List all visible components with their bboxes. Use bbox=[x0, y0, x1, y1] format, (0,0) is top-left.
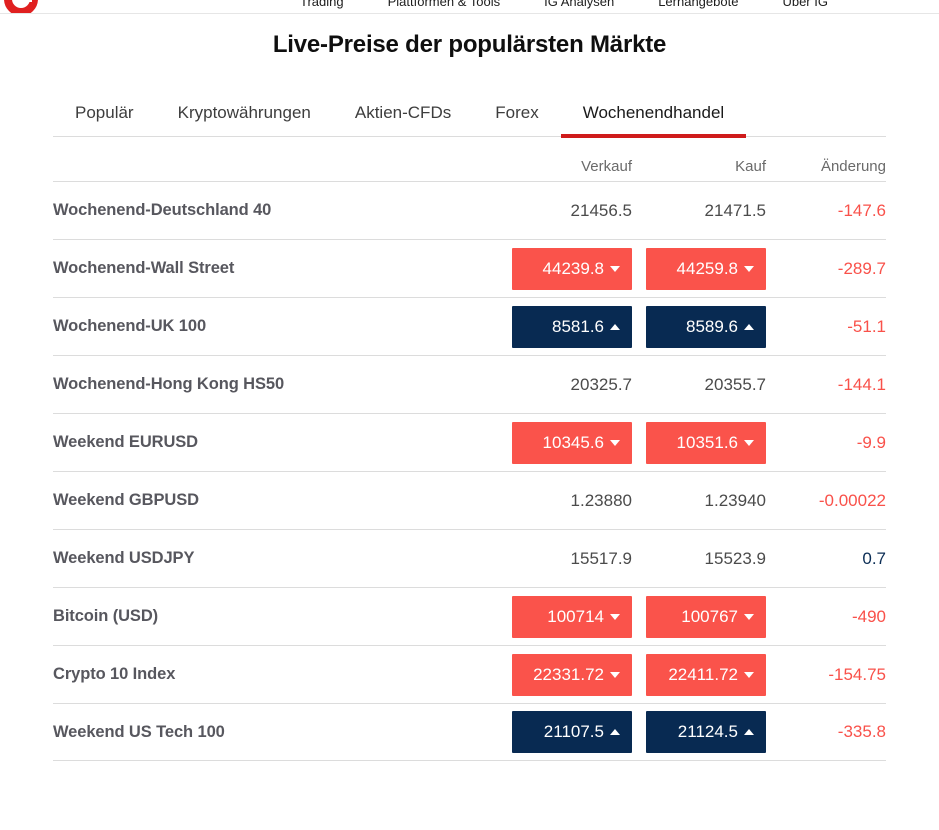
market-category-tabs: PopulärKryptowährungenAktien-CFDsForexWo… bbox=[0, 103, 939, 137]
table-row[interactable]: Wochenend-Hong Kong HS5020325.720355.7-1… bbox=[53, 355, 886, 413]
table-row[interactable]: Bitcoin (USD)100714100767-490 bbox=[53, 587, 886, 645]
top-nav-items: TradingPlattformen & ToolsIG AnalysenLer… bbox=[300, 0, 828, 9]
instrument-name-cell[interactable]: Weekend EURUSD bbox=[53, 433, 512, 452]
change-value: -335.8 bbox=[838, 722, 886, 741]
top-nav-item-4[interactable]: Über IG bbox=[782, 0, 828, 9]
sell-price-button[interactable]: 10345.6 bbox=[512, 422, 632, 464]
instrument-name: Weekend EURUSD bbox=[53, 433, 198, 451]
instrument-name: Bitcoin (USD) bbox=[53, 607, 158, 625]
change-value: -147.6 bbox=[838, 201, 886, 220]
arrow-down-icon bbox=[610, 440, 620, 446]
sell-price-cell[interactable]: 100714 bbox=[512, 596, 646, 638]
arrow-up-icon bbox=[610, 729, 620, 735]
instrument-name-cell[interactable]: Crypto 10 Index bbox=[53, 665, 512, 684]
buy-price-value: 100767 bbox=[681, 607, 738, 627]
instrument-name: Wochenend-Wall Street bbox=[53, 259, 234, 277]
tab-aktien-cfds[interactable]: Aktien-CFDs bbox=[333, 103, 473, 136]
tab-forex[interactable]: Forex bbox=[473, 103, 560, 136]
arrow-up-icon bbox=[610, 324, 620, 330]
change-cell: -335.8 bbox=[780, 722, 886, 742]
column-header-change: Änderung bbox=[780, 158, 886, 175]
buy-price-value: 20355.7 bbox=[705, 375, 766, 395]
instrument-name: Wochenend-UK 100 bbox=[53, 317, 206, 335]
buy-price-cell[interactable]: 10351.6 bbox=[646, 422, 780, 464]
buy-price-value: 10351.6 bbox=[677, 433, 738, 453]
instrument-name-cell[interactable]: Weekend US Tech 100 bbox=[53, 723, 512, 742]
change-cell: -289.7 bbox=[780, 259, 886, 279]
sell-price-value: 20325.7 bbox=[571, 375, 632, 395]
arrow-down-icon bbox=[744, 440, 754, 446]
sell-price-button[interactable]: 44239.8 bbox=[512, 248, 632, 290]
buy-price-cell[interactable]: 1.23940 bbox=[646, 491, 780, 511]
sell-price-value: 21456.5 bbox=[571, 201, 632, 221]
buy-price-button[interactable]: 10351.6 bbox=[646, 422, 766, 464]
instrument-name: Wochenend-Deutschland 40 bbox=[53, 201, 271, 219]
buy-price-button[interactable]: 8589.6 bbox=[646, 306, 766, 348]
tabs-underline bbox=[53, 136, 886, 137]
sell-price-value: 1.23880 bbox=[571, 491, 632, 511]
instrument-name-cell[interactable]: Weekend USDJPY bbox=[53, 549, 512, 568]
table-row[interactable]: Weekend EURUSD10345.610351.6-9.9 bbox=[53, 413, 886, 471]
buy-price-cell[interactable]: 15523.9 bbox=[646, 549, 780, 569]
table-row[interactable]: Crypto 10 Index22331.7222411.72-154.75 bbox=[53, 645, 886, 703]
table-row[interactable]: Wochenend-Deutschland 4021456.521471.5-1… bbox=[53, 181, 886, 239]
change-value: -0.00022 bbox=[819, 491, 886, 510]
table-row[interactable]: Weekend USDJPY15517.915523.90.7 bbox=[53, 529, 886, 587]
arrow-down-icon bbox=[744, 672, 754, 678]
arrow-up-icon bbox=[744, 324, 754, 330]
page-title: Live-Preise der populärsten Märkte bbox=[0, 31, 939, 59]
buy-price-button[interactable]: 44259.8 bbox=[646, 248, 766, 290]
top-nav-item-3[interactable]: Lernangebote bbox=[658, 0, 738, 9]
buy-price-cell[interactable]: 44259.8 bbox=[646, 248, 780, 290]
buy-price-value: 21124.5 bbox=[678, 722, 738, 742]
instrument-name: Crypto 10 Index bbox=[53, 665, 175, 683]
change-cell: -144.1 bbox=[780, 375, 886, 395]
table-row[interactable]: Wochenend-UK 1008581.68589.6-51.1 bbox=[53, 297, 886, 355]
buy-price-cell[interactable]: 20355.7 bbox=[646, 375, 780, 395]
sell-price-button[interactable]: 22331.72 bbox=[512, 654, 632, 696]
arrow-down-icon bbox=[744, 614, 754, 620]
tab-popul-r[interactable]: Populär bbox=[53, 103, 156, 136]
change-cell: -147.6 bbox=[780, 201, 886, 221]
arrow-up-icon bbox=[744, 729, 754, 735]
site-top-navigation: TradingPlattformen & ToolsIG AnalysenLer… bbox=[0, 0, 939, 14]
instrument-name-cell[interactable]: Wochenend-Hong Kong HS50 bbox=[53, 375, 512, 394]
sell-price-cell[interactable]: 21456.5 bbox=[512, 201, 646, 221]
buy-price-button[interactable]: 100767 bbox=[646, 596, 766, 638]
ig-logo[interactable] bbox=[4, 0, 38, 14]
arrow-down-icon bbox=[610, 266, 620, 272]
change-cell: 0.7 bbox=[780, 549, 886, 569]
sell-price-value: 100714 bbox=[547, 607, 604, 627]
sell-price-value: 22331.72 bbox=[533, 665, 604, 685]
sell-price-cell[interactable]: 44239.8 bbox=[512, 248, 646, 290]
arrow-down-icon bbox=[610, 614, 620, 620]
top-nav-item-1[interactable]: Plattformen & Tools bbox=[388, 0, 500, 9]
change-cell: -0.00022 bbox=[780, 491, 886, 511]
sell-price-button[interactable]: 100714 bbox=[512, 596, 632, 638]
change-cell: -51.1 bbox=[780, 317, 886, 337]
instrument-name: Weekend US Tech 100 bbox=[53, 723, 225, 741]
sell-price-cell[interactable]: 10345.6 bbox=[512, 422, 646, 464]
change-cell: -9.9 bbox=[780, 433, 886, 453]
table-body: Wochenend-Deutschland 4021456.521471.5-1… bbox=[53, 181, 886, 761]
change-value: -490 bbox=[852, 607, 886, 626]
instrument-name-cell[interactable]: Bitcoin (USD) bbox=[53, 607, 512, 626]
sell-price-value: 15517.9 bbox=[571, 549, 632, 569]
table-row[interactable]: Weekend GBPUSD1.238801.23940-0.00022 bbox=[53, 471, 886, 529]
sell-price-cell[interactable]: 20325.7 bbox=[512, 375, 646, 395]
change-cell: -154.75 bbox=[780, 665, 886, 685]
sell-price-cell[interactable]: 21107.5 bbox=[512, 711, 646, 753]
sell-price-cell[interactable]: 15517.9 bbox=[512, 549, 646, 569]
arrow-down-icon bbox=[744, 266, 754, 272]
sell-price-value: 10345.6 bbox=[543, 433, 604, 453]
instrument-name-cell[interactable]: Wochenend-Deutschland 40 bbox=[53, 201, 512, 220]
buy-price-value: 44259.8 bbox=[677, 259, 738, 279]
change-value: -154.75 bbox=[828, 665, 886, 684]
arrow-down-icon bbox=[610, 672, 620, 678]
buy-price-cell[interactable]: 21471.5 bbox=[646, 201, 780, 221]
buy-price-value: 8589.6 bbox=[686, 317, 738, 337]
column-header-sell: Verkauf bbox=[512, 158, 646, 175]
buy-price-value: 15523.9 bbox=[705, 549, 766, 569]
change-value: -289.7 bbox=[838, 259, 886, 278]
sell-price-button[interactable]: 8581.6 bbox=[512, 306, 632, 348]
top-nav-item-2[interactable]: IG Analysen bbox=[544, 0, 614, 9]
live-prices-table: Verkauf Kauf Änderung Wochenend-Deutschl… bbox=[0, 137, 939, 761]
sell-price-value: 21107.5 bbox=[544, 722, 604, 742]
table-row[interactable]: Wochenend-Wall Street44239.844259.8-289.… bbox=[53, 239, 886, 297]
sell-price-value: 8581.6 bbox=[552, 317, 604, 337]
buy-price-value: 1.23940 bbox=[705, 491, 766, 511]
sell-price-cell[interactable]: 22331.72 bbox=[512, 654, 646, 696]
tab-kryptow-hrungen[interactable]: Kryptowährungen bbox=[156, 103, 333, 136]
buy-price-cell[interactable]: 8589.6 bbox=[646, 306, 780, 348]
buy-price-value: 21471.5 bbox=[705, 201, 766, 221]
sell-price-value: 44239.8 bbox=[543, 259, 604, 279]
tab-list: PopulärKryptowährungenAktien-CFDsForexWo… bbox=[53, 103, 886, 136]
buy-price-button[interactable]: 22411.72 bbox=[646, 654, 766, 696]
change-cell: -490 bbox=[780, 607, 886, 627]
tab-wochenendhandel[interactable]: Wochenendhandel bbox=[561, 103, 746, 136]
instrument-name: Weekend USDJPY bbox=[53, 549, 194, 567]
instrument-name-cell[interactable]: Wochenend-UK 100 bbox=[53, 317, 512, 336]
change-value: -9.9 bbox=[857, 433, 886, 452]
sell-price-cell[interactable]: 1.23880 bbox=[512, 491, 646, 511]
sell-price-button[interactable]: 21107.5 bbox=[512, 711, 632, 753]
buy-price-button[interactable]: 21124.5 bbox=[646, 711, 766, 753]
change-value: -51.1 bbox=[847, 317, 886, 336]
instrument-name-cell[interactable]: Wochenend-Wall Street bbox=[53, 259, 512, 278]
table-row[interactable]: Weekend US Tech 10021107.521124.5-335.8 bbox=[53, 703, 886, 761]
buy-price-value: 22411.72 bbox=[668, 665, 738, 685]
change-value: -144.1 bbox=[838, 375, 886, 394]
change-value: 0.7 bbox=[862, 549, 886, 568]
buy-price-cell[interactable]: 22411.72 bbox=[646, 654, 780, 696]
column-header-buy: Kauf bbox=[646, 158, 780, 175]
top-nav-item-0[interactable]: Trading bbox=[300, 0, 344, 9]
table-header-row: Verkauf Kauf Änderung bbox=[53, 137, 886, 181]
buy-price-cell[interactable]: 100767 bbox=[646, 596, 780, 638]
instrument-name: Weekend GBPUSD bbox=[53, 491, 199, 509]
sell-price-cell[interactable]: 8581.6 bbox=[512, 306, 646, 348]
instrument-name: Wochenend-Hong Kong HS50 bbox=[53, 375, 284, 393]
instrument-name-cell[interactable]: Weekend GBPUSD bbox=[53, 491, 512, 510]
buy-price-cell[interactable]: 21124.5 bbox=[646, 711, 780, 753]
